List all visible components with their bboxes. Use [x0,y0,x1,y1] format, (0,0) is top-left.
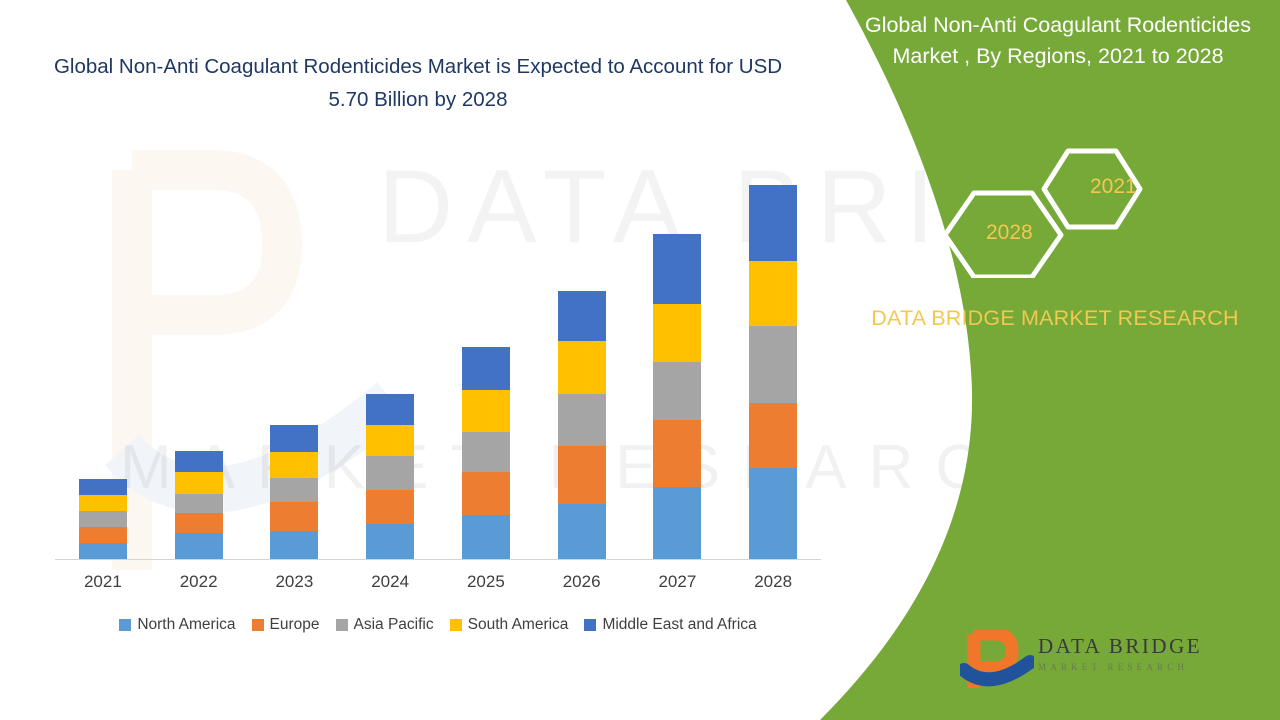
x-tick-label: 2027 [630,572,726,592]
segment-north-america [558,504,606,559]
segment-middle-east-africa [175,451,223,472]
segment-europe [270,502,318,531]
segment-middle-east-africa [366,394,414,425]
bar-column[interactable] [438,150,534,559]
bar-stack [462,347,510,559]
x-tick-label: 2023 [247,572,343,592]
segment-europe [175,513,223,533]
segment-middle-east-africa [270,425,318,452]
legend-label: Middle East and Africa [602,616,756,634]
segment-south-america [79,495,127,511]
x-tick-label: 2026 [534,572,630,592]
segment-north-america [79,543,127,559]
bar-stack [366,394,414,559]
bar-stack [175,451,223,559]
segment-asia-pacific [653,362,701,420]
segment-north-america [749,468,797,559]
segment-asia-pacific [558,394,606,446]
legend-item-asia-pacific[interactable]: Asia Pacific [336,616,434,634]
segment-middle-east-africa [749,185,797,261]
hexagon-label-2021: 2021 [1090,175,1137,199]
brand-name: DATA BRIDGE MARKET RESEARCH [850,303,1260,333]
chart-legend: North America Europe Asia Pacific South … [55,616,821,634]
segment-asia-pacific [175,494,223,513]
logo-subtitle: MARKET RESEARCH [1038,662,1202,672]
segment-asia-pacific [79,511,127,527]
hexagon-label-2028: 2028 [986,221,1033,245]
segment-middle-east-africa [558,291,606,341]
segment-europe [558,446,606,504]
legend-swatch-icon [450,619,462,631]
x-tick-label: 2028 [725,572,821,592]
segment-south-america [558,341,606,394]
bar-column[interactable] [342,150,438,559]
segment-middle-east-africa [653,234,701,304]
segment-north-america [462,515,510,559]
bar-column[interactable] [534,150,630,559]
legend-label: Asia Pacific [354,616,434,634]
x-axis-tick-labels: 2021 2022 2023 2024 2025 2026 2027 2028 [55,572,821,592]
segment-europe [749,403,797,468]
segment-europe [653,420,701,487]
segment-south-america [366,425,414,456]
bar-stack [749,185,797,559]
x-tick-label: 2024 [342,572,438,592]
segment-north-america [270,531,318,559]
page-title: Global Non-Anti Coagulant Rodenticides M… [48,50,788,116]
bar-column[interactable] [55,150,151,559]
legend-swatch-icon [584,619,596,631]
x-tick-label: 2025 [438,572,534,592]
segment-south-america [175,472,223,494]
logo-text-block: DATA BRIDGE MARKET RESEARCH [1038,634,1202,672]
x-tick-label: 2022 [151,572,247,592]
x-axis-line [55,559,821,560]
legend-item-south-america[interactable]: South America [450,616,569,634]
segment-asia-pacific [366,456,414,490]
bar-column[interactable] [247,150,343,559]
x-tick-label: 2021 [55,572,151,592]
legend-item-north-america[interactable]: North America [119,616,235,634]
data-bridge-b-mark-icon [960,630,1034,692]
segment-middle-east-africa [79,479,127,495]
segment-middle-east-africa [462,347,510,390]
legend-label: Europe [270,616,320,634]
logo-title: DATA BRIDGE [1038,634,1202,659]
segment-asia-pacific [749,326,797,403]
legend-label: South America [468,616,569,634]
bar-column[interactable] [151,150,247,559]
bar-group [55,150,821,559]
segment-south-america [462,390,510,432]
legend-swatch-icon [336,619,348,631]
segment-south-america [653,304,701,362]
legend-item-europe[interactable]: Europe [252,616,320,634]
segment-europe [366,490,414,524]
segment-north-america [653,487,701,559]
panel-title: Global Non-Anti Coagulant Rodenticides M… [858,10,1258,72]
bar-stack [79,479,127,559]
chart-plot-area [55,150,821,560]
bar-stack [558,291,606,559]
hexagon-group: 2028 2021 [928,143,1228,278]
segment-asia-pacific [462,432,510,472]
company-logo[interactable]: DATA BRIDGE MARKET RESEARCH [960,630,1205,696]
segment-asia-pacific [270,478,318,502]
legend-item-middle-east-and-africa[interactable]: Middle East and Africa [584,616,756,634]
bar-stack [653,234,701,559]
segment-europe [462,472,510,515]
legend-label: North America [137,616,235,634]
hexagon-shapes-icon [928,143,1228,278]
segment-europe [79,527,127,543]
bar-stack [270,425,318,559]
bar-column[interactable] [725,150,821,559]
segment-north-america [366,524,414,559]
bar-column[interactable] [630,150,726,559]
brand-panel: Global Non-Anti Coagulant Rodenticides M… [820,0,1280,720]
segment-south-america [749,261,797,326]
legend-swatch-icon [252,619,264,631]
segment-north-america [175,533,223,559]
panel-content: Global Non-Anti Coagulant Rodenticides M… [820,0,1280,720]
segment-south-america [270,452,318,478]
legend-swatch-icon [119,619,131,631]
infographic-canvas: DATA BRIDGE MARKET RESEARCH Global Non-A… [0,0,1280,720]
